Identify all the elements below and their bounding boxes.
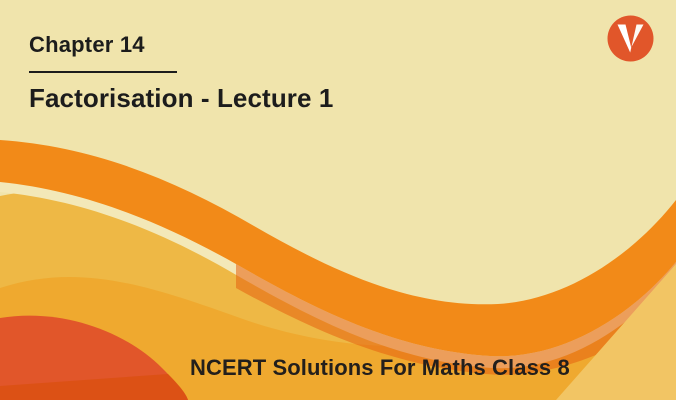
title-divider bbox=[29, 71, 177, 73]
vedantu-v-logo-icon[interactable] bbox=[606, 14, 655, 63]
banner-text-layer: Chapter 14 Factorisation - Lecture 1 NCE… bbox=[0, 0, 676, 400]
page-title: Factorisation - Lecture 1 bbox=[29, 84, 333, 114]
logo-circle bbox=[608, 16, 654, 62]
course-banner: Chapter 14 Factorisation - Lecture 1 NCE… bbox=[0, 0, 676, 400]
chapter-label: Chapter 14 bbox=[29, 34, 145, 56]
footer-subtitle: NCERT Solutions For Maths Class 8 bbox=[190, 357, 570, 379]
